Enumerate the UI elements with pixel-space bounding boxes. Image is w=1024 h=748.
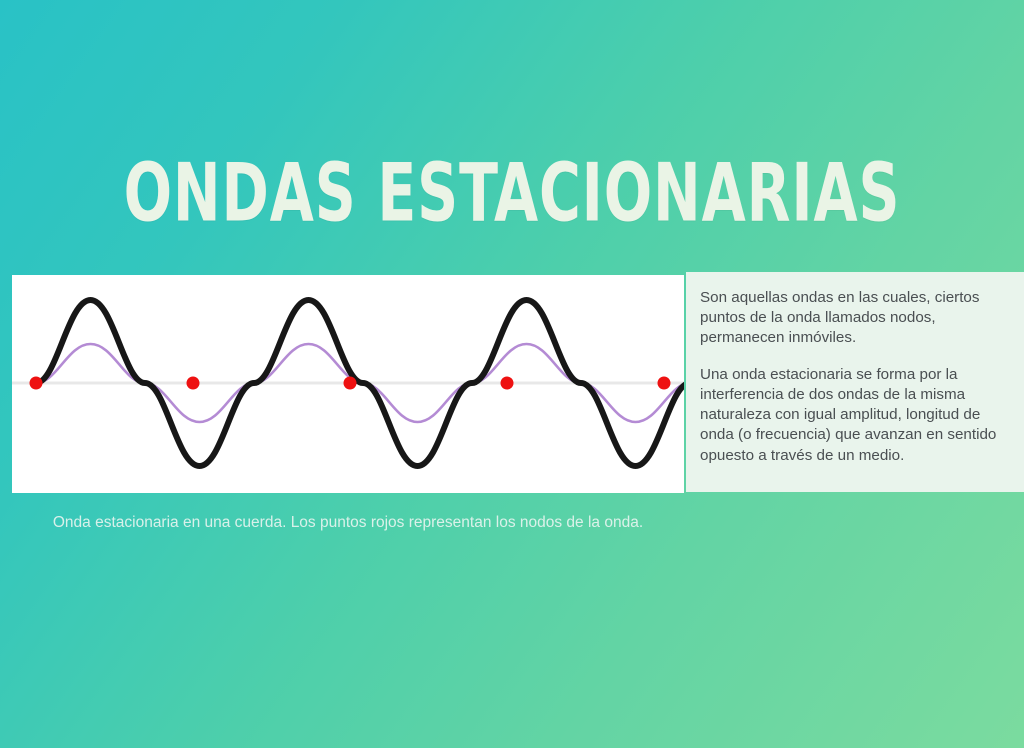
description-paragraph-2: Una onda estacionaria se forma por la in… xyxy=(700,365,1014,466)
description-paragraph-1: Son aquellas ondas en las cuales, cierto… xyxy=(700,288,1014,349)
standing-wave-chart xyxy=(12,275,684,493)
node-marker xyxy=(344,377,357,390)
wave-figure-card xyxy=(12,275,684,493)
description-panel: Son aquellas ondas en las cuales, cierto… xyxy=(686,272,1024,492)
slide-canvas: ONDAS ESTACIONARIAS Onda estacionaria en… xyxy=(0,0,1024,748)
node-marker xyxy=(187,377,200,390)
node-marker xyxy=(501,377,514,390)
page-title: ONDAS ESTACIONARIAS xyxy=(61,152,962,233)
figure-caption: Onda estacionaria en una cuerda. Los pun… xyxy=(12,512,684,534)
node-marker xyxy=(30,377,43,390)
node-marker xyxy=(658,377,671,390)
